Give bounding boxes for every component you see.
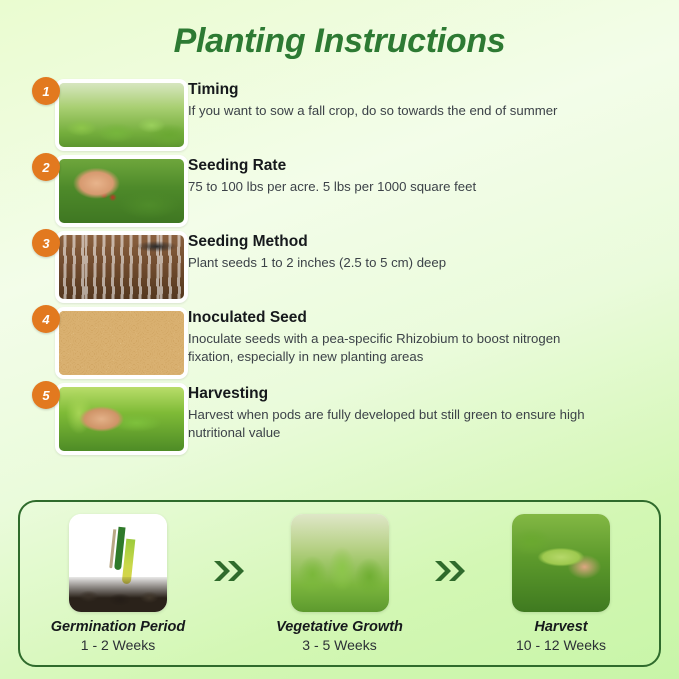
timeline-stage-label: Harvest bbox=[481, 619, 641, 635]
step-description: Plant seeds 1 to 2 inches (2.5 to 5 cm) … bbox=[188, 254, 446, 272]
step-thumbnail-slot: 3 bbox=[32, 229, 188, 305]
rake-on-soil-photo bbox=[59, 235, 184, 299]
timeline-stage-harvest: Harvest 10 - 12 Weeks bbox=[481, 514, 641, 653]
double-chevron-right-icon bbox=[209, 558, 249, 584]
steps-list: 1 Timing If you want to sow a fall crop,… bbox=[0, 77, 679, 457]
timeline-stage-duration: 1 - 2 Weeks bbox=[38, 637, 198, 653]
pea-seedlings-photo bbox=[59, 83, 184, 147]
timeline-stage-duration: 3 - 5 Weeks bbox=[260, 637, 420, 653]
step-text: Timing If you want to sow a fall crop, d… bbox=[188, 77, 567, 120]
step-description: Inoculate seeds with a pea-specific Rhiz… bbox=[188, 330, 588, 365]
step-badge-4: 4 bbox=[32, 305, 60, 333]
step-thumbnail-4 bbox=[55, 307, 188, 379]
step-thumbnail-slot: 2 bbox=[32, 153, 188, 229]
step-text: Seeding Rate 75 to 100 lbs per acre. 5 l… bbox=[188, 153, 486, 196]
step-description: If you want to sow a fall crop, do so to… bbox=[188, 102, 557, 120]
title-container: Planting Instructions bbox=[0, 0, 679, 61]
double-chevron-right-icon bbox=[430, 558, 470, 584]
step-title: Seeding Method bbox=[188, 233, 446, 251]
step-row: 3 Seeding Method Plant seeds 1 to 2 inch… bbox=[32, 229, 663, 305]
step-title: Seeding Rate bbox=[188, 157, 476, 175]
step-row: 1 Timing If you want to sow a fall crop,… bbox=[32, 77, 663, 153]
timeline-stage-duration: 10 - 12 Weeks bbox=[481, 637, 641, 653]
step-badge-1: 1 bbox=[32, 77, 60, 105]
step-badge-5: 5 bbox=[32, 381, 60, 409]
step-row: 2 Seeding Rate 75 to 100 lbs per acre. 5… bbox=[32, 153, 663, 229]
timeline-stage-label: Germination Period bbox=[38, 619, 198, 635]
step-description: Harvest when pods are fully developed bu… bbox=[188, 406, 588, 441]
step-thumbnail-2 bbox=[55, 155, 188, 227]
step-thumbnail-slot: 4 bbox=[32, 305, 188, 381]
growth-timeline-panel: Germination Period 1 - 2 Weeks Vegetativ… bbox=[18, 500, 661, 667]
step-title: Timing bbox=[188, 81, 557, 99]
pea-plants-growing-photo bbox=[291, 514, 389, 612]
step-text: Harvesting Harvest when pods are fully d… bbox=[188, 381, 598, 441]
hand-holding-pea-pods-photo bbox=[512, 514, 610, 612]
step-description: 75 to 100 lbs per acre. 5 lbs per 1000 s… bbox=[188, 178, 476, 196]
hand-sowing-seeds-photo bbox=[59, 159, 184, 223]
page-title: Planting Instructions bbox=[0, 22, 679, 61]
pea-seeds-photo bbox=[59, 311, 184, 375]
timeline-stage-vegetative: Vegetative Growth 3 - 5 Weeks bbox=[260, 514, 420, 653]
step-title: Harvesting bbox=[188, 385, 588, 403]
step-row: 5 Harvesting Harvest when pods are fully… bbox=[32, 381, 663, 457]
step-thumbnail-1 bbox=[55, 79, 188, 151]
step-text: Inoculated Seed Inoculate seeds with a p… bbox=[188, 305, 598, 365]
timeline-thumbnail-1 bbox=[69, 514, 167, 612]
step-badge-3: 3 bbox=[32, 229, 60, 257]
timeline-stage-label: Vegetative Growth bbox=[260, 619, 420, 635]
step-text: Seeding Method Plant seeds 1 to 2 inches… bbox=[188, 229, 456, 272]
step-thumbnail-3 bbox=[55, 231, 188, 303]
timeline-thumbnail-3 bbox=[512, 514, 610, 612]
step-badge-2: 2 bbox=[32, 153, 60, 181]
step-thumbnail-5 bbox=[55, 383, 188, 455]
step-thumbnail-slot: 1 bbox=[32, 77, 188, 153]
sprouting-seed-photo bbox=[69, 514, 167, 612]
timeline-thumbnail-2 bbox=[291, 514, 389, 612]
timeline-stage-germination: Germination Period 1 - 2 Weeks bbox=[38, 514, 198, 653]
step-thumbnail-slot: 5 bbox=[32, 381, 188, 457]
harvesting-pods-photo bbox=[59, 387, 184, 451]
step-title: Inoculated Seed bbox=[188, 309, 588, 327]
step-row: 4 Inoculated Seed Inoculate seeds with a… bbox=[32, 305, 663, 381]
